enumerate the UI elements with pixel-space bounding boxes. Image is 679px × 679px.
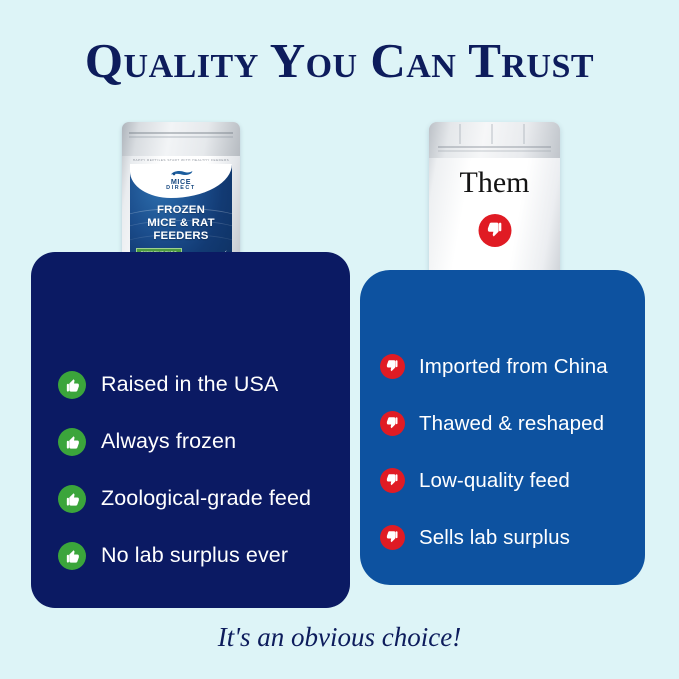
- list-item: Always frozen: [58, 413, 311, 470]
- thumbs-down-glyph: [385, 416, 400, 431]
- bag-zipper-line: [129, 132, 233, 134]
- list-item: Low-quality feed: [380, 452, 608, 509]
- them-bag-fold: [523, 124, 525, 144]
- list-item: Imported from China: [380, 338, 608, 395]
- list-item-label: No lab surplus ever: [101, 543, 288, 568]
- thumbs-down-glyph: [485, 221, 504, 240]
- page-title: Quality You Can Trust: [0, 35, 679, 88]
- brand-name-line2: DIRECT: [130, 186, 232, 191]
- thumbs-down-icon: [380, 525, 405, 550]
- them-bag-fold: [459, 124, 461, 144]
- thumbs-down-glyph: [385, 473, 400, 488]
- thumbs-up-icon: [58, 371, 86, 399]
- mouse-logo-icon: [168, 170, 194, 177]
- them-bag-top-seal: [429, 122, 560, 158]
- list-item-label: Zoological-grade feed: [101, 486, 311, 511]
- thumbs-up-glyph: [64, 547, 81, 564]
- list-item-label: Raised in the USA: [101, 372, 278, 397]
- list-item: Sells lab surplus: [380, 509, 608, 566]
- bag-headline: FROZEN MICE & RAT FEEDERS: [130, 204, 232, 242]
- list-item-label: Imported from China: [419, 355, 608, 379]
- thumbs-down-glyph: [385, 359, 400, 374]
- thumbs-down-icon: [478, 214, 511, 247]
- thumbs-up-icon: [58, 542, 86, 570]
- them-bag-label: Them: [429, 168, 560, 198]
- list-item-label: Sells lab surplus: [419, 526, 570, 550]
- brand-logo: MICE DIRECT: [130, 170, 232, 192]
- bag-headline-line2: MICE & RAT: [130, 217, 232, 230]
- thumbs-up-icon: [58, 428, 86, 456]
- bag-top-seal: [122, 122, 240, 156]
- infographic-canvas: Quality You Can Trust HAPPY REPTILES STA…: [0, 0, 679, 679]
- brand-name-line1: MICE: [130, 178, 232, 185]
- thumbs-up-glyph: [64, 490, 81, 507]
- thumbs-up-glyph: [64, 376, 81, 393]
- thumbs-up-icon: [58, 485, 86, 513]
- benefits-list: Raised in the USA Always frozen Zoologic…: [58, 356, 311, 584]
- them-bag-fold: [491, 124, 493, 144]
- list-item: Raised in the USA: [58, 356, 311, 413]
- thumbs-up-glyph: [64, 433, 81, 450]
- thumbs-down-icon: [380, 468, 405, 493]
- them-bag-zipper-line: [438, 150, 551, 152]
- comparison-panel-ours: Raised in the USA Always frozen Zoologic…: [31, 252, 350, 608]
- bag-zipper-line: [129, 136, 233, 138]
- bag-headline-line3: FEEDERS: [130, 230, 232, 243]
- list-item: No lab surplus ever: [58, 527, 311, 584]
- list-item: Thawed & reshaped: [380, 395, 608, 452]
- list-item-label: Always frozen: [101, 429, 236, 454]
- them-bag-zipper-line: [438, 146, 551, 148]
- thumbs-down-glyph: [385, 530, 400, 545]
- thumbs-down-icon: [380, 411, 405, 436]
- list-item-label: Low-quality feed: [419, 469, 570, 493]
- thumbs-down-icon: [380, 354, 405, 379]
- comparison-panel-them: Imported from China Thawed & reshaped Lo…: [360, 270, 645, 585]
- drawbacks-list: Imported from China Thawed & reshaped Lo…: [380, 338, 608, 566]
- footer-tagline: It's an obvious choice!: [0, 622, 679, 653]
- list-item-label: Thawed & reshaped: [419, 412, 604, 436]
- bag-headline-line1: FROZEN: [130, 204, 232, 217]
- list-item: Zoological-grade feed: [58, 470, 311, 527]
- bag-tagline: HAPPY REPTILES START WITH HEALTHY FEEDER…: [122, 158, 240, 162]
